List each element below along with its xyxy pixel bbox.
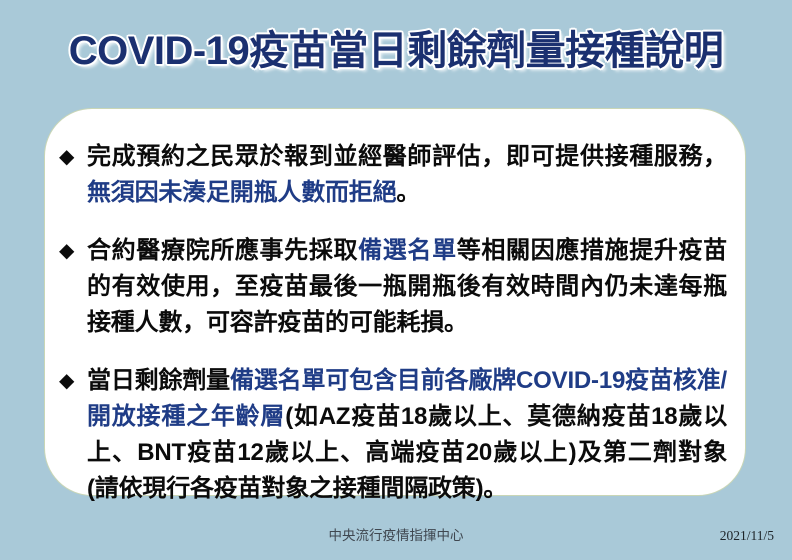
- bullet-item: ◆ 合約醫療院所應事先採取備選名單等相關因應措施提升疫苗的有效使用，至疫苗最後一…: [57, 233, 727, 341]
- page-title: COVID-19疫苗當日剩餘劑量接種說明: [0, 26, 792, 76]
- diamond-bullet-icon: ◆: [59, 139, 74, 175]
- bullet-segment-highlight: 備選名單: [358, 237, 457, 264]
- content-card: ◆ 完成預約之民眾於報到並經醫師評估，即可提供接種服務，無須因未湊足開瓶人數而拒…: [44, 108, 746, 496]
- bullet-segment: 合約醫療院所應事先採取: [87, 237, 358, 264]
- bullet-segment: 。: [396, 179, 420, 206]
- diamond-bullet-icon: ◆: [59, 233, 74, 269]
- bullet-segment-highlight: 無須因未湊足開瓶人數而拒絕: [87, 179, 396, 206]
- bullet-segment: 完成預約之民眾於報到並經醫師評估，即可提供接種服務，: [87, 143, 727, 170]
- footer-organization: 中央流行疫情指揮中心: [0, 526, 792, 546]
- bullet-item: ◆ 當日剩餘劑量備選名單可包含目前各廠牌COVID-19疫苗核准/開放接種之年齡…: [57, 363, 727, 507]
- diamond-bullet-icon: ◆: [59, 363, 74, 399]
- bullet-segment: 當日剩餘劑量: [87, 367, 230, 394]
- footer-date: 2021/11/5: [720, 526, 774, 546]
- bullet-list: ◆ 完成預約之民眾於報到並經醫師評估，即可提供接種服務，無須因未湊足開瓶人數而拒…: [57, 139, 727, 507]
- slide-footer: 中央流行疫情指揮中心 2021/11/5: [0, 526, 792, 546]
- bullet-item: ◆ 完成預約之民眾於報到並經醫師評估，即可提供接種服務，無須因未湊足開瓶人數而拒…: [57, 139, 727, 211]
